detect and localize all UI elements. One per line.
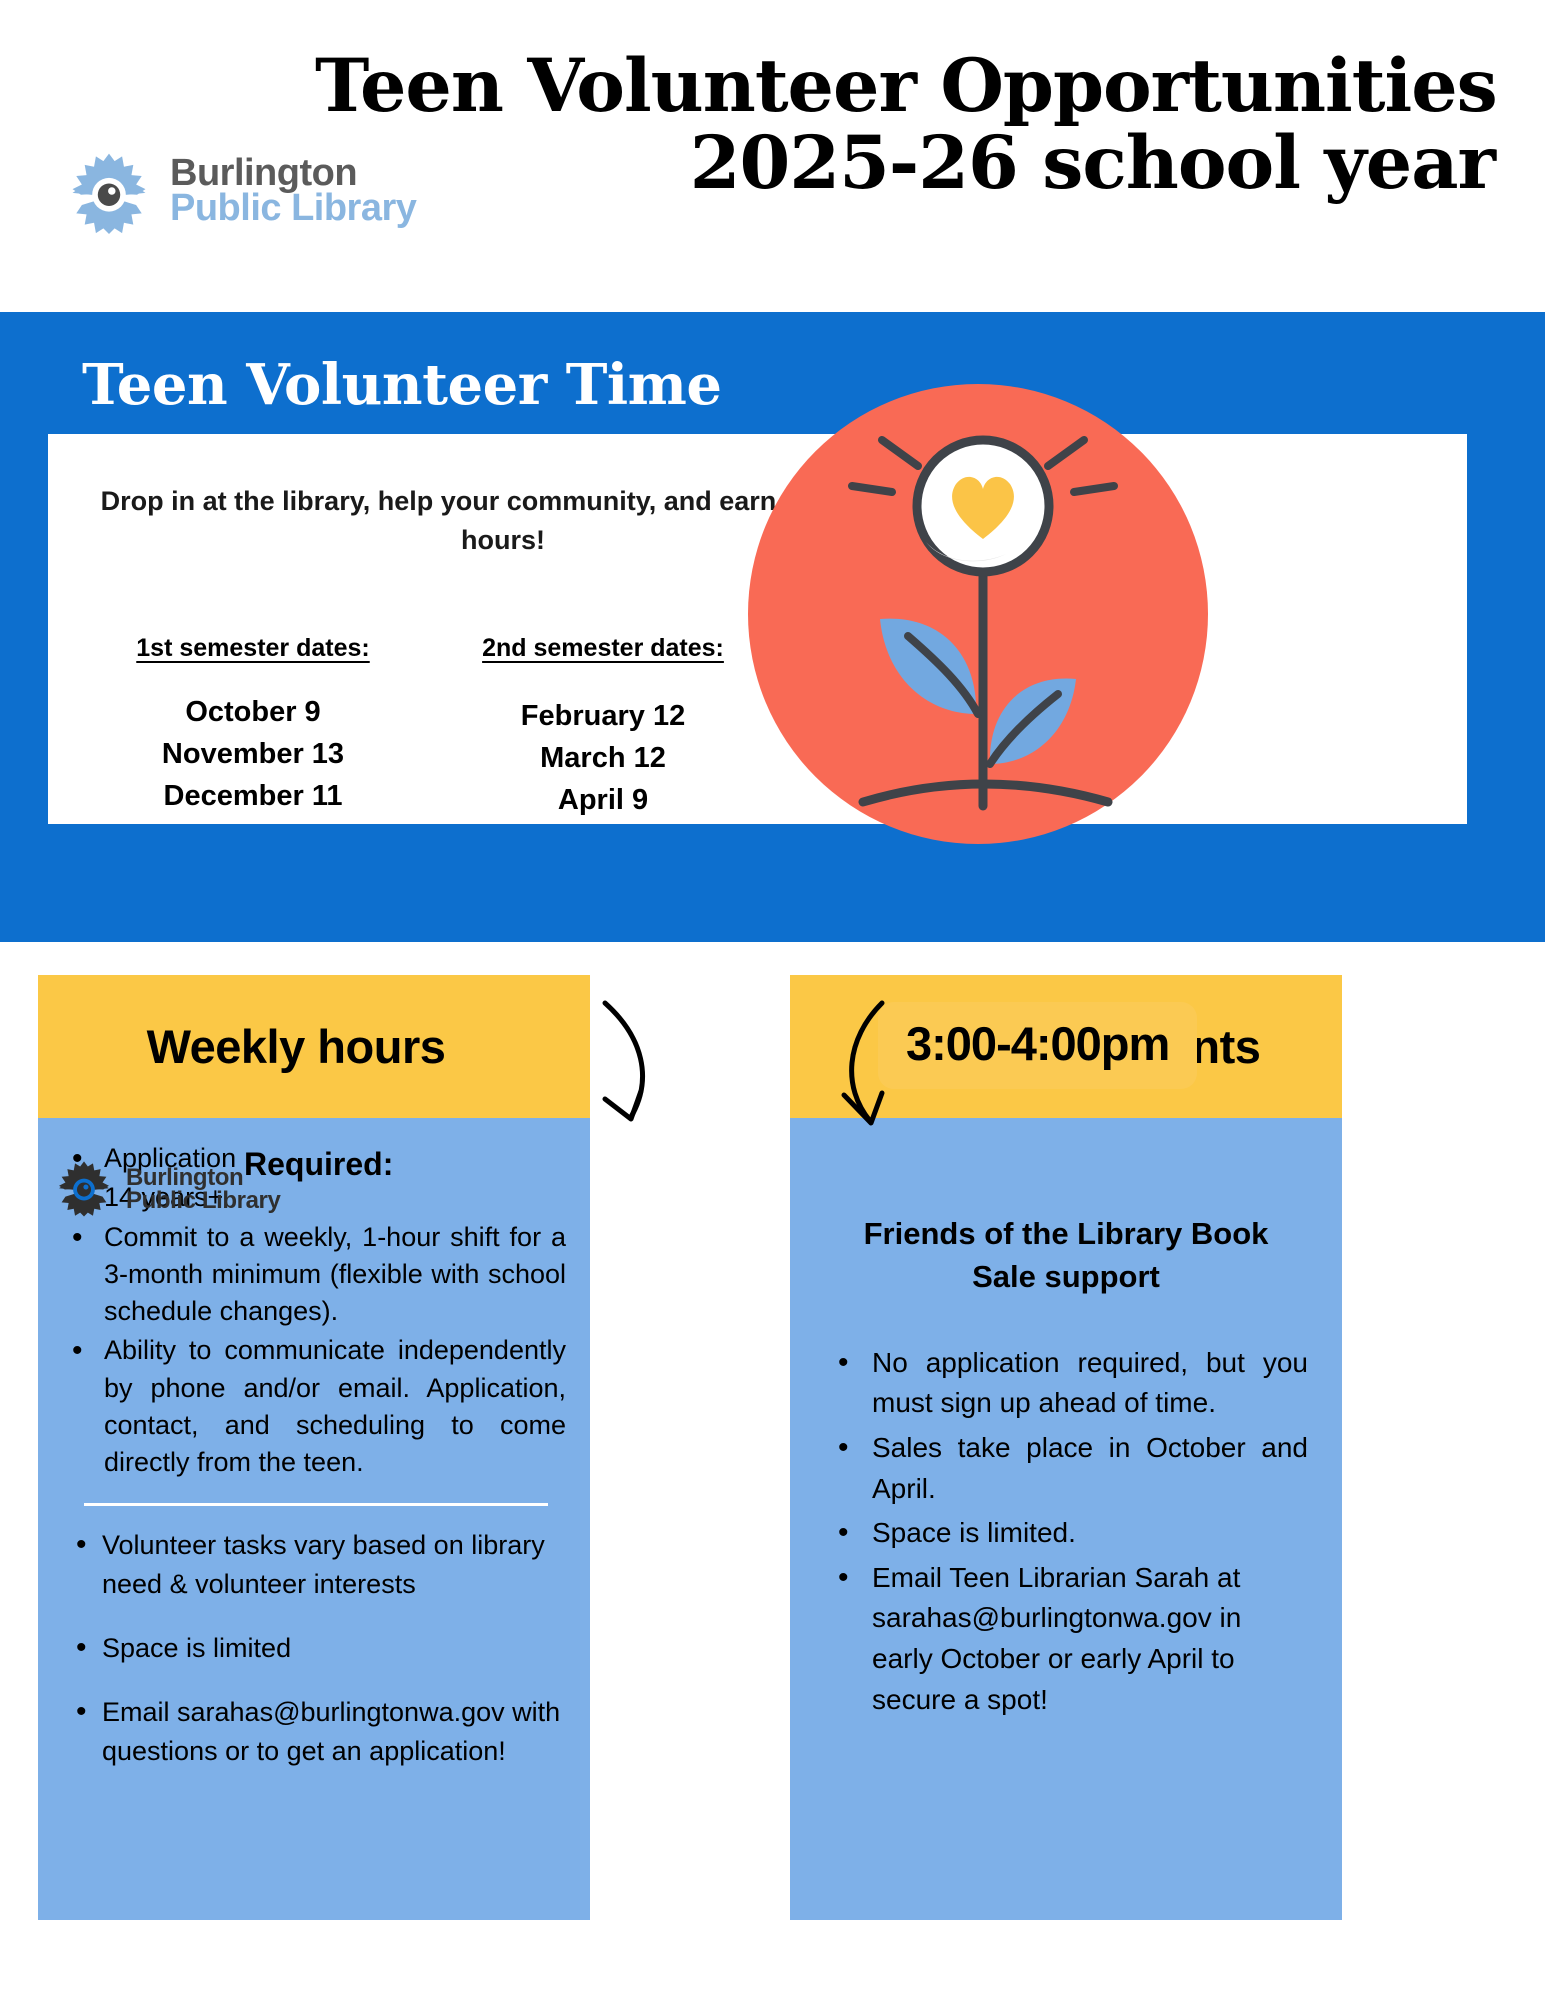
weekly-hours-body: Application 14 years+ Commit to a weekly… <box>38 1118 590 1920</box>
semester-2-heading: 2nd semester dates: <box>438 634 768 663</box>
list-item: Sales take place in October and April. <box>830 1428 1308 1509</box>
page-title: Teen Volunteer Opportunities 2025-26 sch… <box>315 48 1495 201</box>
list-item: Email sarahas@burlingtonwa.gov with ques… <box>62 1693 566 1770</box>
gear-sunburst-logo-icon <box>52 1157 116 1222</box>
list-item: Volunteer tasks vary based on library ne… <box>62 1526 566 1603</box>
title-line-1: Teen Volunteer Opportunities <box>315 48 1495 125</box>
semester-1-date: November 13 <box>88 733 418 775</box>
semester-2-column: 2nd semester dates: February 12 March 12… <box>438 634 768 821</box>
weekly-hours-panel: Weekly hours Application 14 years+ Commi… <box>38 975 590 1920</box>
weekly-notes-list: Volunteer tasks vary based on library ne… <box>62 1526 566 1770</box>
title-line-2: 2025-26 school year <box>315 125 1495 202</box>
weekly-hours-title: Weekly hours <box>147 1019 446 1074</box>
special-events-panel: Special Events Friends of the Library Bo… <box>790 975 1342 1920</box>
semester-1-date: October 9 <box>88 691 418 733</box>
special-events-body: Friends of the Library Book Sale support… <box>790 1118 1342 1920</box>
poster-header: Burlington Public Library Teen Volunteer… <box>0 0 1545 312</box>
semester-2-date: March 12 <box>438 737 768 779</box>
teen-volunteer-time-section: Teen Volunteer Time Drop in at the libra… <box>0 312 1545 942</box>
heart-flower-illustration <box>748 384 1218 854</box>
semester-2-date: February 12 <box>438 695 768 737</box>
list-item: Ability to communicate independently by … <box>62 1332 566 1481</box>
semester-2-date: April 9 <box>438 779 768 821</box>
list-item: Email Teen Librarian Sarah at sarahas@bu… <box>830 1558 1308 1720</box>
required-label: Required: <box>244 1146 393 1183</box>
list-item: Commit to a weekly, 1-hour shift for a 3… <box>62 1219 566 1331</box>
section-divider <box>84 1503 548 1506</box>
time-badge: 3:00-4:00pm <box>878 1002 1197 1089</box>
program-details-card: Drop in at the library, help your commun… <box>48 434 1467 824</box>
semester-1-column: 1st semester dates: October 9 November 1… <box>88 634 418 817</box>
list-item: Space is limited <box>62 1629 566 1667</box>
poster: Burlington Public Library Teen Volunteer… <box>0 0 1545 2000</box>
logo-line-public-library: Public Library <box>126 1190 280 1213</box>
flower-heart-graphic <box>808 414 1158 834</box>
gear-sunburst-logo-icon <box>62 148 156 234</box>
special-events-list: No application required, but you must si… <box>814 1343 1318 1720</box>
curved-arrow-down-icon <box>595 995 685 1155</box>
special-events-subheading: Friends of the Library Book Sale support <box>850 1212 1282 1299</box>
semester-1-heading: 1st semester dates: <box>88 634 418 663</box>
list-item: No application required, but you must si… <box>830 1343 1308 1424</box>
semester-1-date: December 11 <box>88 775 418 817</box>
section-title: Teen Volunteer Time <box>82 352 722 418</box>
list-item: Space is limited. <box>830 1513 1308 1554</box>
weekly-hours-header: Weekly hours <box>38 975 590 1118</box>
